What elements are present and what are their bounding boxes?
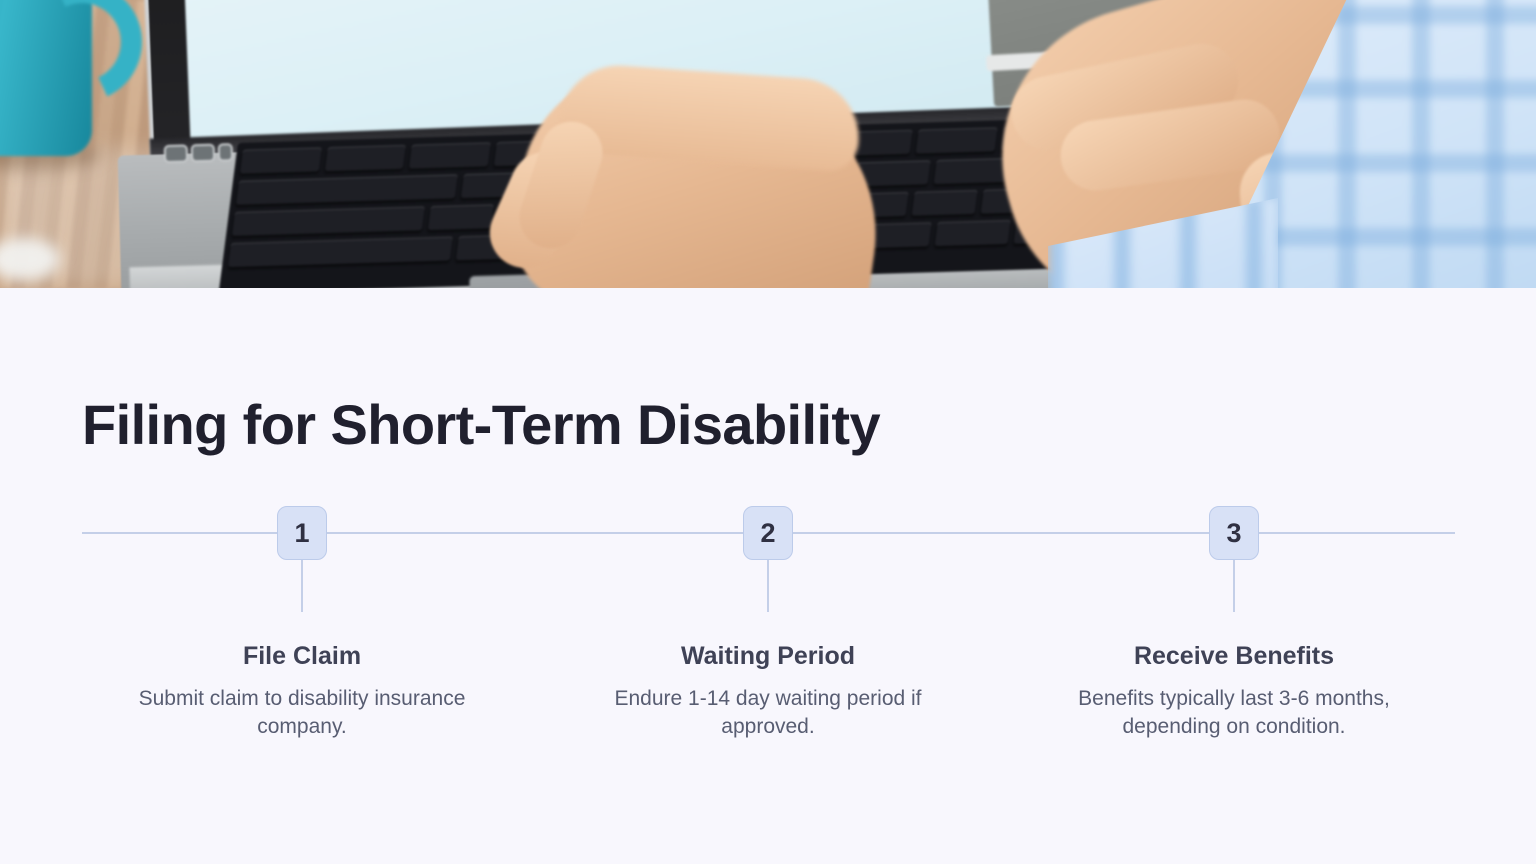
step-title: Waiting Period: [568, 642, 968, 671]
laptop-ports: [166, 145, 239, 166]
step-description: Benefits typically last 3-6 months, depe…: [1034, 685, 1434, 742]
step-number-badge[interactable]: 1: [277, 506, 327, 560]
step-number-badge[interactable]: 2: [743, 506, 793, 560]
timeline-step-1[interactable]: 1 File Claim Submit claim to disability …: [102, 506, 502, 742]
step-connector-line: [767, 560, 769, 612]
page-title: Filing for Short-Term Disability: [82, 392, 880, 457]
step-number-badge[interactable]: 3: [1209, 506, 1259, 560]
timeline-step-2[interactable]: 2 Waiting Period Endure 1-14 day waiting…: [568, 506, 968, 742]
content-panel: Filing for Short-Term Disability 1 File …: [0, 288, 1536, 864]
timeline-step-3[interactable]: 3 Receive Benefits Benefits typically la…: [1034, 506, 1434, 742]
step-connector-line: [1233, 560, 1235, 612]
step-connector-line: [301, 560, 303, 612]
step-description: Endure 1-14 day waiting period if approv…: [568, 685, 968, 742]
hero-image: [0, 0, 1536, 288]
step-title: File Claim: [102, 642, 502, 671]
step-description: Submit claim to disability insurance com…: [102, 685, 502, 742]
step-title: Receive Benefits: [1034, 642, 1434, 671]
